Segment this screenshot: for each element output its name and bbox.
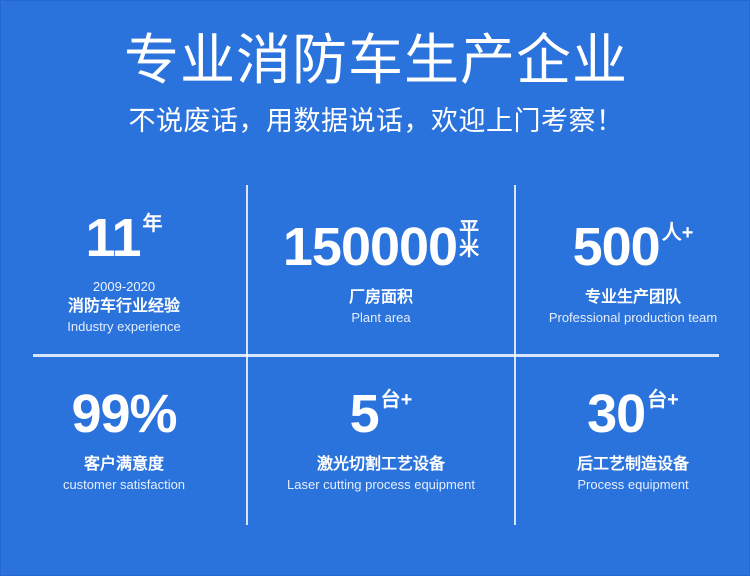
- stat-label-en: Professional production team: [549, 309, 717, 327]
- stat-label-en: Plant area: [349, 309, 413, 327]
- stat-cell-production-team: 500 人+ 专业生产团队 Professional production te…: [515, 185, 750, 355]
- grid-divider-horizontal: [33, 354, 719, 357]
- stat-label-cn: 客户满意度: [63, 454, 185, 475]
- stat-number: 500: [573, 219, 660, 275]
- stat-label-en: Laser cutting process equipment: [287, 476, 475, 494]
- stat-cell-laser-cutting-equipment: 5 台+ 激光切割工艺设备 Laser cutting process equi…: [247, 355, 515, 525]
- stat-number-row: 30 台+: [587, 386, 679, 442]
- stat-suffix: 台+: [647, 389, 679, 411]
- stat-number-row: 11 年: [85, 210, 162, 266]
- stat-suffix: 平 米: [459, 221, 479, 259]
- stat-labels: 2009-2020 消防车行业经验 Industry experience: [67, 278, 180, 336]
- banner-header: 专业消防车生产企业 不说废话，用数据说话，欢迎上门考察！: [1, 1, 750, 138]
- promo-banner: 专业消防车生产企业 不说废话，用数据说话，欢迎上门考察！ 11 年 2009-2…: [0, 0, 750, 576]
- stat-suffix: 台+: [381, 389, 413, 411]
- stat-label-cn: 后工艺制造设备: [577, 454, 689, 475]
- stat-number: 11: [85, 210, 140, 266]
- stat-cell-industry-experience: 11 年 2009-2020 消防车行业经验 Industry experien…: [1, 185, 247, 355]
- stat-suffix: 人+: [662, 222, 694, 244]
- stat-label-en: customer satisfaction: [63, 476, 185, 494]
- stat-number-row: 150000 平 米: [283, 219, 479, 275]
- stat-cell-customer-satisfaction: 99% 客户满意度 customer satisfaction: [1, 355, 247, 525]
- stat-number-row: 99%: [71, 386, 176, 442]
- stat-number: 99%: [71, 386, 176, 442]
- stat-label-cn: 消防车行业经验: [67, 296, 180, 317]
- page-subtitle: 不说废话，用数据说话，欢迎上门考察！: [1, 104, 750, 138]
- stat-label-cn: 激光切割工艺设备: [287, 454, 475, 475]
- stat-suffix-line2: 米: [459, 240, 479, 259]
- page-title: 专业消防车生产企业: [1, 27, 750, 93]
- stat-suffix: 年: [143, 213, 163, 235]
- stat-labels: 后工艺制造设备 Process equipment: [577, 454, 689, 494]
- stat-label-en: Process equipment: [577, 476, 689, 494]
- stat-cell-plant-area: 150000 平 米 厂房面积 Plant area: [247, 185, 515, 355]
- stat-labels: 厂房面积 Plant area: [349, 287, 413, 327]
- stat-label-cn: 厂房面积: [349, 287, 413, 308]
- stat-number-row: 500 人+: [573, 219, 694, 275]
- stat-labels: 客户满意度 customer satisfaction: [63, 454, 185, 494]
- stat-number: 5: [350, 386, 379, 442]
- stat-labels: 专业生产团队 Professional production team: [549, 287, 717, 327]
- stat-number: 150000: [283, 219, 457, 275]
- stat-labels: 激光切割工艺设备 Laser cutting process equipment: [287, 454, 475, 494]
- stat-number-row: 5 台+: [350, 386, 413, 442]
- stat-label-cn: 专业生产团队: [549, 287, 717, 308]
- stat-number: 30: [587, 386, 645, 442]
- stat-cell-process-equipment: 30 台+ 后工艺制造设备 Process equipment: [515, 355, 750, 525]
- stat-sub-label: 2009-2020: [67, 278, 180, 295]
- stat-label-en: Industry experience: [67, 318, 180, 336]
